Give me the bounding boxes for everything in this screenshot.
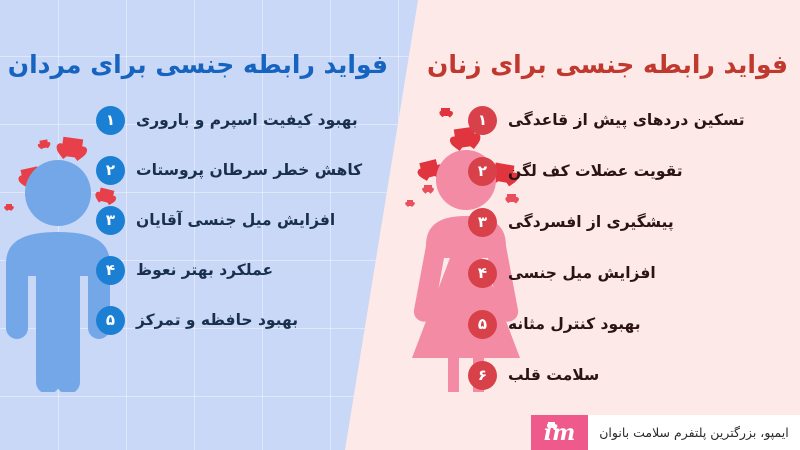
heart-icon <box>441 108 450 116</box>
item-label: بهبود کنترل مثانه <box>508 316 641 333</box>
footer-tagline: ایمپو، بزرگترین پلتفرم سلامت بانوان <box>588 425 800 440</box>
item-number-badge: ۴ <box>96 256 125 285</box>
item-label: عملکرد بهتر نعوظ <box>136 262 273 279</box>
item-number-badge: ۱ <box>468 106 497 135</box>
item-number-badge: ۲ <box>468 157 497 186</box>
list-item: ۳ افزایش میل جنسی آقایان <box>96 204 361 237</box>
list-item: ۶ سلامت قلب <box>468 359 768 392</box>
item-number-badge: ۵ <box>96 306 125 335</box>
list-item: ۳ پیشگیری از افسردگی <box>468 206 768 239</box>
item-number-badge: ۲ <box>96 156 125 185</box>
item-label: تقویت عضلات کف لگن <box>508 163 683 180</box>
item-label: تسکین دردهای پیش از قاعدگی <box>508 112 745 129</box>
item-number-badge: ۵ <box>468 310 497 339</box>
page-title-women: فواید رابطه جنسی برای زنان <box>436 50 788 79</box>
item-label: بهبود حافظه و تمرکز <box>136 312 298 329</box>
list-item: ۲ تقویت عضلات کف لگن <box>468 155 768 188</box>
item-label: افزایش میل جنسی <box>508 265 656 282</box>
list-item: ۵ بهبود حافظه و تمرکز <box>96 304 361 337</box>
item-label: افزایش میل جنسی آقایان <box>136 212 335 229</box>
brand-logo: im <box>531 415 588 450</box>
item-label: پیشگیری از افسردگی <box>508 214 674 231</box>
footer-bar: im ایمپو، بزرگترین پلتفرم سلامت بانوان <box>531 415 800 450</box>
item-number-badge: ۱ <box>96 106 125 135</box>
item-number-badge: ۴ <box>468 259 497 288</box>
list-item: ۱ بهبود کیفیت اسپرم و باروری <box>96 104 361 137</box>
page-title-men: فواید رابطه جنسی برای مردان <box>28 50 388 79</box>
list-item: ۴ افزایش میل جنسی <box>468 257 768 290</box>
item-number-badge: ۳ <box>96 206 125 235</box>
item-number-badge: ۳ <box>468 208 497 237</box>
benefits-list-men: ۱ بهبود کیفیت اسپرم و باروری ۲ کاهش خطر … <box>96 104 361 337</box>
list-item: ۲ کاهش خطر سرطان پروستات <box>96 154 361 187</box>
item-number-badge: ۶ <box>468 361 497 390</box>
item-label: کاهش خطر سرطان پروستات <box>136 162 362 179</box>
heart-icon <box>39 139 48 148</box>
list-item: ۱ تسکین دردهای پیش از قاعدگی <box>468 104 768 137</box>
heart-dot-icon <box>548 422 555 428</box>
list-item: ۴ عملکرد بهتر نعوظ <box>96 254 361 287</box>
benefits-list-women: ۱ تسکین دردهای پیش از قاعدگی ۲ تقویت عضل… <box>468 104 768 392</box>
infographic-canvas: فواید رابطه جنسی برای مردان فواید رابطه … <box>0 0 800 450</box>
list-item: ۵ بهبود کنترل مثانه <box>468 308 768 341</box>
item-label: سلامت قلب <box>508 367 599 384</box>
heart-icon <box>61 137 83 159</box>
item-label: بهبود کیفیت اسپرم و باروری <box>136 112 358 129</box>
